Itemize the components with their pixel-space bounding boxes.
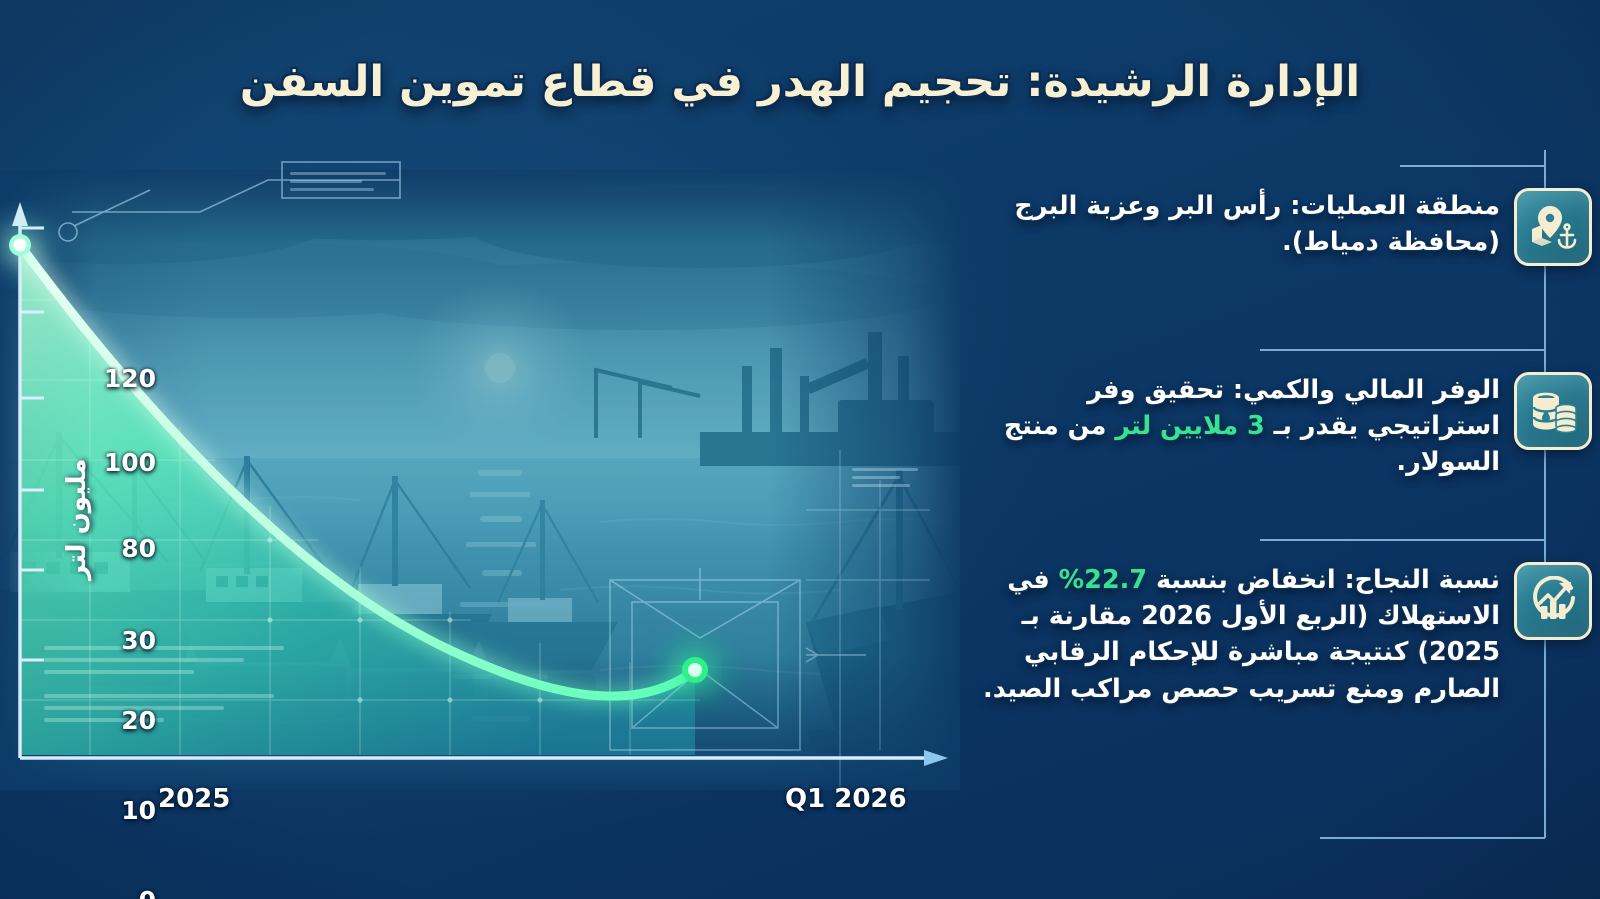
fact-3-text: نسبة النجاح: انخفاض بنسبة 22.7% في الاست… — [972, 562, 1500, 707]
page-title: الإدارة الرشيدة: تحجيم الهدر في قطاع تمو… — [240, 56, 1360, 108]
oil-barrel-coins-icon — [1514, 372, 1592, 450]
y-tick-label-100: 100 — [100, 448, 156, 477]
infographic-stage: الإدارة الرشيدة: تحجيم الهدر في قطاع تمو… — [0, 0, 1600, 899]
hud-microtext-top — [290, 172, 386, 191]
y-tick-label-10: 10 — [100, 796, 156, 825]
fact-2-highlight: 3 ملايين لتر — [1115, 411, 1264, 441]
y-tick-label-0: 0 — [100, 886, 156, 899]
y-tick-label-30: 30 — [100, 626, 156, 655]
fact-2: الوفر المالي والكمي: تحقيق وفر استراتيجي… — [972, 372, 1592, 481]
x-axis-arrow — [924, 750, 948, 766]
chart-plot — [0, 150, 960, 850]
hud-grid-right — [806, 450, 930, 790]
area-fill — [20, 245, 695, 755]
fact-1: منطقة العمليات: رأس البر وعزبة البرج (مح… — [972, 188, 1592, 266]
fact-1-text: منطقة العمليات: رأس البر وعزبة البرج (مح… — [972, 188, 1500, 260]
y-axis-arrow — [12, 202, 28, 226]
map-pin-anchor-icon — [1514, 188, 1592, 266]
facts-panel: منطقة العمليات: رأس البر وعزبة البرج (مح… — [960, 150, 1600, 870]
growth-chart-arrow-icon — [1514, 562, 1592, 640]
x-tick-label-2025: 2025 — [158, 784, 230, 814]
fact-1-seg-0: منطقة العمليات: رأس البر وعزبة البرج (مح… — [1014, 191, 1500, 257]
x-tick-label-q1-2026: Q1 2026 — [785, 784, 907, 814]
y-tick-label-20: 20 — [100, 706, 156, 735]
y-tick-label-80: 80 — [100, 534, 156, 563]
chart-region: 120 100 80 30 20 10 0 مليون لتر 2025 Q1 … — [0, 150, 960, 850]
title-container: الإدارة الرشيدة: تحجيم الهدر في قطاع تمو… — [0, 56, 1600, 108]
fact-3-seg-0: نسبة النجاح: انخفاض بنسبة — [1147, 565, 1500, 595]
hud-microtext-right — [852, 468, 918, 487]
fact-3-highlight: 22.7% — [1059, 565, 1147, 595]
y-tick-label-120: 120 — [100, 364, 156, 393]
fact-2-text: الوفر المالي والكمي: تحقيق وفر استراتيجي… — [972, 372, 1500, 481]
fact-3: نسبة النجاح: انخفاض بنسبة 22.7% في الاست… — [972, 562, 1592, 707]
y-axis-title: مليون لتر — [62, 459, 92, 580]
